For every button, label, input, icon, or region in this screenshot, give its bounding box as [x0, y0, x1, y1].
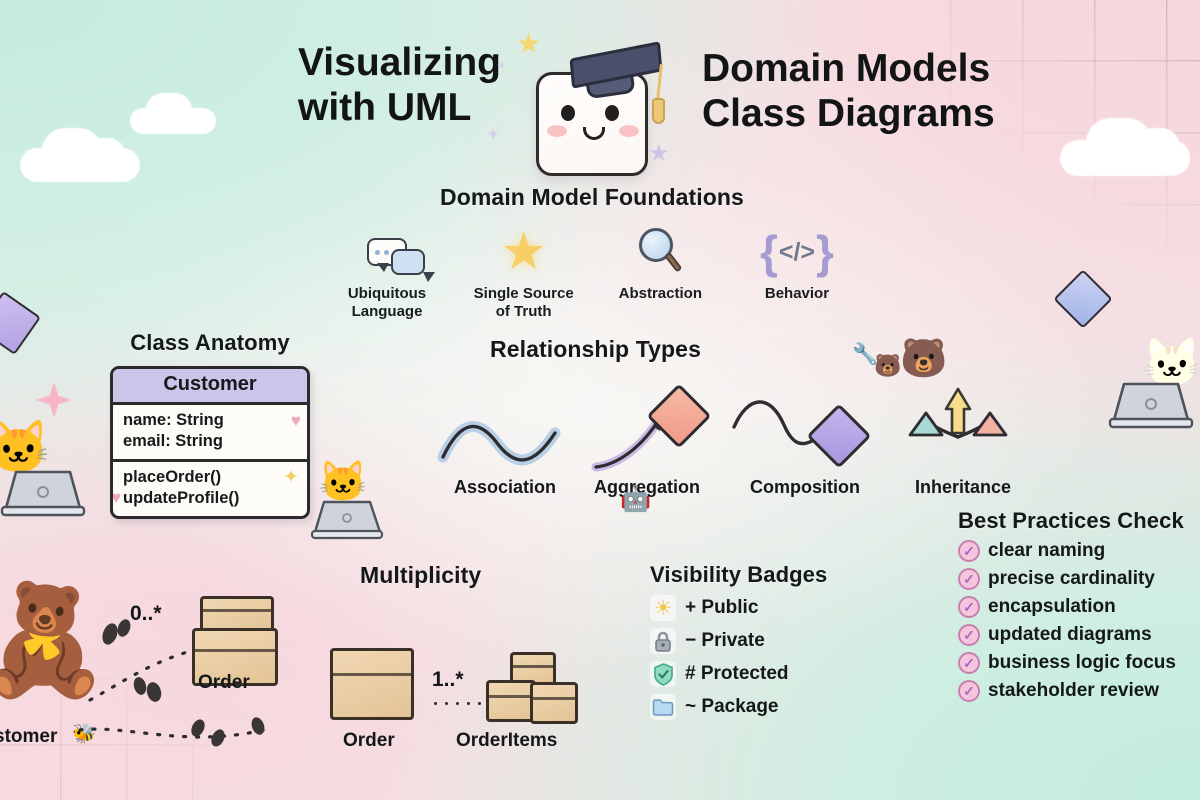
check-circle-icon: ✓: [958, 652, 980, 674]
foundation-item-single-source-of-truth[interactable]: ★ Single Source of Truth: [465, 225, 583, 322]
foundation-item-abstraction[interactable]: Abstraction: [601, 225, 719, 322]
multiplicity-section: Multiplicity: [360, 562, 530, 589]
foundation-label: Single Source of Truth: [465, 285, 583, 322]
checklist-item[interactable]: ✓ encapsulation: [958, 596, 1200, 618]
foundation-label: Behavior: [738, 285, 856, 303]
multiplicity-from-label: Order: [343, 730, 395, 752]
check-circle-icon: ✓: [958, 540, 980, 562]
visibility-label: Package: [701, 696, 778, 717]
relationship-label: Association: [430, 477, 580, 498]
visibility-label: Protected: [701, 663, 789, 684]
blush-right: [619, 125, 639, 137]
foundation-label-line1: Single Source: [474, 285, 574, 302]
visibility-title: Visibility Badges: [650, 562, 870, 588]
hollow-diamond-icon: [572, 385, 722, 477]
multiplicity-cardinality: 0..*: [130, 602, 162, 626]
box-b: [486, 680, 536, 722]
relationship-label: Inheritance: [888, 477, 1038, 498]
visibility-symbol: ~: [685, 696, 696, 717]
foundation-label-line1: Ubiquitous: [348, 285, 426, 302]
visibility-text: + Public: [685, 597, 758, 619]
multiplicity-cardinality: 1..*: [432, 668, 464, 692]
bear-large-icon: 🐻: [900, 337, 947, 381]
cloud-icon: [1060, 140, 1190, 176]
checklist-item[interactable]: ✓ stakeholder review: [958, 680, 1200, 702]
code-braces-icon: {</>}: [738, 225, 856, 279]
page-title-left: Visualizing with UML: [298, 40, 528, 130]
checklist-title: Best Practices Check: [958, 508, 1200, 534]
multiplicity-to-label: Order: [198, 672, 250, 694]
cloud-icon: [20, 148, 140, 182]
class-name: Customer: [113, 369, 307, 405]
sparkle-icon: ✦: [496, 58, 508, 72]
method-row: placeOrder(): [123, 467, 297, 488]
filled-diamond-icon: [730, 385, 880, 477]
visibility-text: ~ Package: [685, 696, 779, 718]
laptop-icon: [0, 468, 86, 522]
foundations-title: Domain Model Foundations: [322, 184, 862, 211]
multiplicity-to-label: OrderItems: [456, 730, 557, 752]
title-line-3: Domain Models: [702, 46, 1002, 91]
cat-with-laptop-center: 🐱: [310, 462, 414, 548]
visibility-section: Visibility Badges ☀ + Public − Private: [650, 562, 870, 720]
uml-class-box[interactable]: Customer name: String email: String ♥ pl…: [110, 366, 310, 519]
method-row: updateProfile(): [123, 488, 297, 509]
visibility-label: Private: [701, 630, 764, 651]
laptop-icon: [1108, 380, 1194, 434]
folder-icon: [650, 694, 676, 720]
checklist-label: updated diagrams: [988, 624, 1152, 646]
cloud-icon: [130, 108, 216, 134]
checklist-label: encapsulation: [988, 596, 1116, 618]
box-c: [530, 682, 578, 724]
star-sparkle-icon: ★: [516, 30, 541, 58]
lock-icon: [650, 628, 676, 654]
page-title-right: Domain Models Class Diagrams: [702, 46, 1002, 136]
foundation-label: Abstraction: [601, 285, 719, 303]
foundation-label: Ubiquitous Language: [328, 285, 446, 322]
chat-bubbles-icon: [328, 225, 446, 279]
blush-left: [547, 125, 567, 137]
class-anatomy-section: Class Anatomy Customer name: String emai…: [110, 330, 310, 519]
checklist-item[interactable]: ✓ precise cardinality: [958, 568, 1200, 590]
foundation-label-line2: of Truth: [496, 303, 552, 320]
class-anatomy-title: Class Anatomy: [110, 330, 310, 356]
wavy-line-icon: [430, 385, 580, 477]
visibility-text: # Protected: [685, 663, 789, 685]
heart-icon: ♥: [291, 411, 301, 431]
eye-left: [561, 105, 575, 121]
foundation-label-line1: Abstraction: [619, 285, 702, 302]
foundation-item-ubiquitous-language[interactable]: Ubiquitous Language: [328, 225, 446, 322]
eye-right: [605, 105, 619, 121]
checklist-label: business logic focus: [988, 652, 1176, 674]
foundation-item-behavior[interactable]: {</>} Behavior: [738, 225, 856, 322]
checklist-label: stakeholder review: [988, 680, 1159, 702]
robot-icon: 🤖: [620, 485, 651, 514]
foundation-label-line2: Language: [352, 303, 423, 320]
magic-wand-icon: ✦: [283, 466, 299, 489]
star-sparkle-icon: ★: [648, 142, 670, 166]
multiplicity-connector: [430, 702, 484, 705]
check-circle-icon: ✓: [958, 596, 980, 618]
multiplicity-title: Multiplicity: [360, 562, 530, 589]
sun-icon: ☀: [650, 595, 676, 621]
orderitems-boxes: [486, 652, 582, 728]
visibility-item-public[interactable]: ☀ + Public: [650, 595, 870, 621]
cat-icon: 🐱: [318, 462, 368, 502]
relationship-item-inheritance[interactable]: 🔧 🐻 🐻 Inheritance: [888, 385, 1038, 498]
visibility-item-private[interactable]: − Private: [650, 628, 870, 654]
cat-with-laptop-right: 🐱: [1108, 340, 1200, 440]
check-circle-icon: ✓: [958, 680, 980, 702]
bear-small-icon: 🐻: [874, 353, 901, 379]
checklist-item[interactable]: ✓ business logic focus: [958, 652, 1200, 674]
sparkle-icon: ✦: [486, 126, 500, 143]
star-icon: ★: [465, 225, 583, 279]
foundation-label-line1: Behavior: [765, 285, 829, 302]
relationships-title: Relationship Types: [490, 336, 1050, 363]
visibility-item-protected[interactable]: # Protected: [650, 661, 870, 687]
checklist-label: clear naming: [988, 540, 1105, 562]
relationship-item-composition[interactable]: Composition: [730, 385, 880, 498]
relationship-label: Composition: [730, 477, 880, 498]
check-circle-icon: ✓: [958, 568, 980, 590]
visibility-symbol: −: [685, 630, 696, 651]
visibility-symbol: +: [685, 597, 696, 618]
arrow-triangle-icon: 🔧 🐻 🐻: [888, 385, 1038, 477]
class-attributes: name: String email: String ♥: [113, 405, 307, 459]
checklist-label: precise cardinality: [988, 568, 1155, 590]
smile: [583, 127, 605, 140]
relationship-item-aggregation[interactable]: Aggregation 🤖: [572, 385, 722, 498]
relationships-section: Relationship Types Association: [430, 336, 1050, 493]
shield-icon: [650, 661, 676, 687]
graduation-marshmallow-icon: ★ ★ ✦ ✦: [524, 30, 674, 180]
laptop-icon: [310, 498, 386, 544]
visibility-item-package[interactable]: ~ Package: [650, 694, 870, 720]
order-box: [330, 648, 414, 720]
check-circle-icon: ✓: [958, 624, 980, 646]
class-methods: placeOrder() updateProfile() ✦ ♥: [113, 459, 307, 516]
title-line-2: with UML: [298, 85, 528, 130]
magnifier-icon: [601, 225, 719, 279]
checklist-item[interactable]: ✓ updated diagrams: [958, 624, 1200, 646]
checklist-item[interactable]: ✓ clear naming: [958, 540, 1200, 562]
tassel-end: [652, 98, 665, 124]
box-top: [200, 596, 274, 632]
foundations-section: Domain Model Foundations Ubiquitous Lang…: [322, 184, 862, 322]
visibility-text: − Private: [685, 630, 765, 652]
heart-icon: ♥: [111, 488, 121, 508]
multiplicity-from-label: stomer: [0, 726, 57, 748]
visibility-label: Public: [701, 597, 758, 618]
title-line-4: Class Diagrams: [702, 91, 1002, 136]
cat-icon: 🐱: [0, 422, 51, 474]
attribute-row: email: String: [123, 431, 297, 452]
visibility-symbol: #: [685, 663, 696, 684]
infographic-canvas: Visualizing with UML Domain Models Class…: [0, 0, 1200, 800]
checklist-section: Best Practices Check ✓ clear naming ✓ pr…: [958, 508, 1200, 702]
relationship-item-association[interactable]: Association: [430, 385, 580, 498]
title-line-1: Visualizing: [298, 40, 528, 85]
attribute-row: name: String: [123, 410, 297, 431]
cat-with-laptop-left: 🐱: [0, 418, 94, 528]
